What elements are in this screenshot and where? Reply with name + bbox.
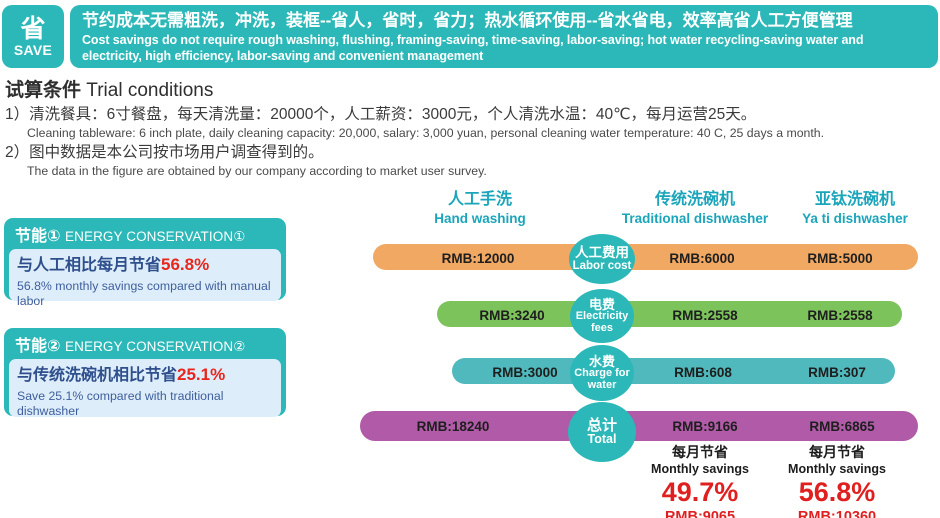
value-total-hand: RMB:18240 (383, 419, 523, 434)
badge-water-en: Charge for water (570, 368, 634, 391)
panel-1-headline-cn: 与人工相比每月节省 (17, 257, 161, 274)
column-header-hand-washing: 人工手洗 Hand washing (390, 190, 570, 227)
column-header-1-en: Traditional dishwasher (600, 210, 790, 227)
panel-1-subtext: 56.8% monthly savings compared with manu… (17, 277, 273, 309)
column-header-2-cn: 亚钛洗碗机 (775, 190, 935, 210)
trial-conditions-title: 试算条件 Trial conditions (5, 78, 935, 104)
savings-1-percent: 56.8% (752, 477, 922, 508)
panel-2-headline-percent: 25.1% (177, 365, 225, 384)
column-header-traditional-dishwasher: 传统洗碗机 Traditional dishwasher (600, 190, 790, 227)
value-elec-traditional: RMB:2558 (645, 308, 765, 323)
category-badge-labor-cost: 人工费用 Labor cost (569, 234, 635, 284)
column-header-2-en: Ya ti dishwasher (775, 210, 935, 227)
energy-conservation-panel-2: 节能② ENERGY CONSERVATION② 与传统洗碗机相比节省25.1%… (4, 328, 286, 416)
value-elec-yati: RMB:2558 (780, 308, 900, 323)
column-header-yati-dishwasher: 亚钛洗碗机 Ya ti dishwasher (775, 190, 935, 227)
panel-2-subtext: Save 25.1% compared with traditional dis… (17, 387, 273, 419)
column-header-0-en: Hand washing (390, 210, 570, 227)
header-banner-en-line1: Cost savings do not require rough washin… (82, 32, 928, 48)
condition-row: 2）图中数据是本公司按市场用户调查得到的。 The data in the fi… (5, 143, 935, 180)
value-labor-hand: RMB:12000 (398, 251, 558, 266)
category-badge-charge-for-water: 水费 Charge for water (570, 345, 634, 401)
infographic-page: 省 SAVE 节约成本无需粗洗，冲洗，装框--省人，省时，省力；热水循环使用--… (0, 0, 940, 518)
header-banner-group: 省 SAVE 节约成本无需粗洗，冲洗，装框--省人，省时，省力；热水循环使用--… (0, 5, 940, 68)
monthly-savings-yati: 每月节省 Monthly savings 56.8% RMB:10360 (752, 444, 922, 518)
energy-conservation-panel-1: 节能① ENERGY CONSERVATION① 与人工相比每月节省56.8% … (4, 218, 286, 300)
badge-total-en: Total (588, 433, 617, 446)
condition-1-en: Cleaning tableware: 6 inch plate, daily … (5, 125, 935, 142)
panel-2-headline-cn: 与传统洗碗机相比节省 (17, 367, 177, 384)
trial-conditions-title-en: Trial conditions (86, 80, 213, 101)
column-header-1-cn: 传统洗碗机 (600, 190, 790, 210)
category-badge-electricity-fees: 电费 Electricity fees (570, 289, 634, 343)
condition-2-cn: 2）图中数据是本公司按市场用户调查得到的。 (5, 143, 935, 163)
panel-1-headline-percent: 56.8% (161, 255, 209, 274)
badge-labor-cn: 人工费用 (575, 246, 629, 260)
condition-row: 1）清洗餐具：6寸餐盘，每天清洗量：20000个，人工薪资：3000元，个人清洗… (5, 105, 935, 142)
badge-total-cn: 总计 (587, 418, 617, 434)
value-labor-yati: RMB:5000 (780, 251, 900, 266)
value-labor-traditional: RMB:6000 (642, 251, 762, 266)
panel-1-body: 与人工相比每月节省56.8% 56.8% monthly savings com… (9, 249, 281, 301)
value-water-hand: RMB:3000 (465, 365, 585, 380)
value-water-traditional: RMB:608 (648, 365, 758, 380)
panel-2-body: 与传统洗碗机相比节省25.1% Save 25.1% compared with… (9, 359, 281, 417)
panel-1-head-cn: 节能① (15, 228, 61, 245)
panel-2-head-en: ENERGY CONSERVATION② (65, 339, 245, 354)
panel-2-headline: 与传统洗碗机相比节省25.1% (17, 364, 273, 387)
value-elec-hand: RMB:3240 (452, 308, 572, 323)
panel-1-headline: 与人工相比每月节省56.8% (17, 254, 273, 277)
save-logo-badge: 省 SAVE (2, 5, 64, 68)
panel-1-head-en: ENERGY CONSERVATION① (65, 229, 245, 244)
header-banner-cn: 节约成本无需粗洗，冲洗，装框--省人，省时，省力；热水循环使用--省水省电，效率… (82, 9, 928, 32)
trial-conditions-title-cn: 试算条件 (5, 80, 81, 101)
save-badge-en: SAVE (14, 42, 52, 58)
header-banner-en-line2: electricity, high efficiency, labor-savi… (82, 48, 928, 64)
value-total-traditional: RMB:9166 (645, 419, 765, 434)
savings-1-amount: RMB:10360 (752, 508, 922, 518)
panel-1-header: 节能① ENERGY CONSERVATION① (9, 222, 281, 249)
badge-elec-cn: 电费 (589, 298, 615, 312)
save-badge-cn: 省 (20, 16, 45, 42)
header-banner: 节约成本无需粗洗，冲洗，装框--省人，省时，省力；热水循环使用--省水省电，效率… (70, 5, 938, 68)
badge-labor-en: Labor cost (573, 260, 632, 272)
value-total-yati: RMB:6865 (782, 419, 902, 434)
savings-1-cn: 每月节省 (752, 444, 922, 461)
badge-elec-en: Electricity fees (570, 311, 634, 334)
column-header-0-cn: 人工手洗 (390, 190, 570, 210)
badge-water-cn: 水费 (589, 355, 615, 369)
savings-1-en: Monthly savings (752, 461, 922, 477)
panel-2-head-cn: 节能② (15, 338, 61, 355)
condition-1-cn: 1）清洗餐具：6寸餐盘，每天清洗量：20000个，人工薪资：3000元，个人清洗… (5, 105, 935, 125)
condition-2-en: The data in the figure are obtained by o… (5, 163, 935, 180)
value-water-yati: RMB:307 (782, 365, 892, 380)
panel-2-header: 节能② ENERGY CONSERVATION② (9, 332, 281, 359)
trial-conditions-section: 试算条件 Trial conditions 1）清洗餐具：6寸餐盘，每天清洗量：… (5, 78, 935, 180)
